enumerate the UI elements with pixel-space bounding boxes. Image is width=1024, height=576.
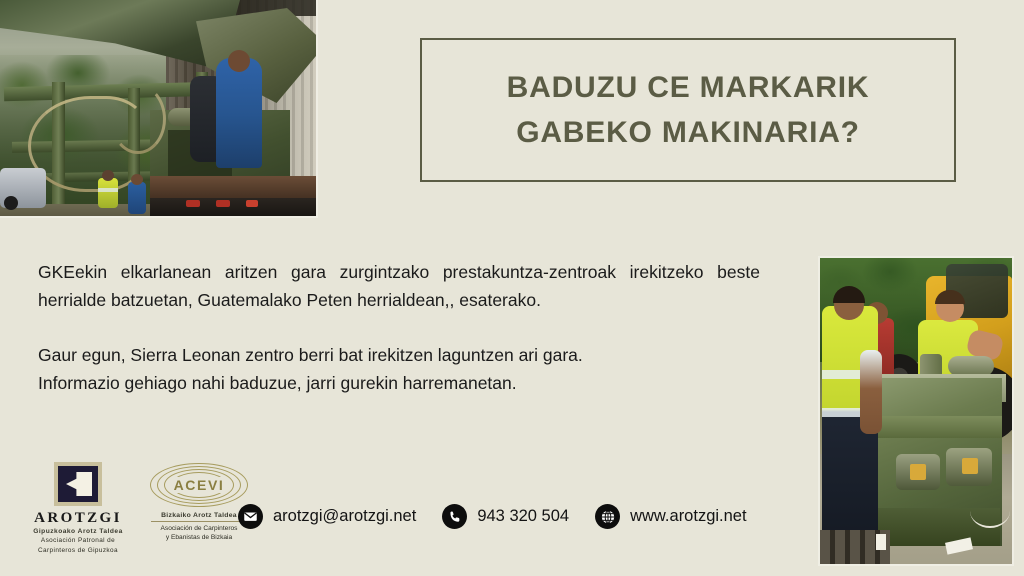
acevi-divider bbox=[151, 521, 247, 522]
photo-worker-head bbox=[102, 170, 114, 181]
contact-row: arotzgi@arotzgi.net 943 320 504 www.aro bbox=[238, 504, 747, 529]
acevi-name: ACEVI bbox=[171, 477, 228, 493]
arotzgi-name: AROTZGI bbox=[32, 511, 124, 526]
contact-website-label: www.arotzgi.net bbox=[630, 507, 746, 526]
photo-cable bbox=[970, 494, 1010, 528]
phone-icon bbox=[442, 504, 467, 529]
paragraph-1: GKEekin elkarlanean aritzen gara zurgint… bbox=[38, 258, 760, 315]
acevi-subtitle-eu: Bizkaiko Arotz Taldea bbox=[146, 512, 252, 519]
paragraph-2-line-2: Informazio gehiago nahi baduzue, jarri g… bbox=[38, 373, 517, 393]
photo-worker-blue-shirt bbox=[216, 58, 262, 168]
logo-acevi: ACEVI Bizkaiko Arotz Taldea Asociación d… bbox=[146, 462, 252, 543]
logo-arotzgi: AROTZGI Gipuzkoako Arotz Taldea Asociaci… bbox=[32, 462, 124, 556]
photo-bystander bbox=[128, 182, 146, 214]
photo-container-loading bbox=[0, 0, 318, 218]
body-copy: GKEekin elkarlanean aritzen gara zurgint… bbox=[38, 258, 760, 397]
contact-email[interactable]: arotzgi@arotzgi.net bbox=[238, 504, 416, 529]
photo-motor-plate bbox=[962, 458, 978, 474]
headline-line-2: GABEKO MAKINARIA? bbox=[516, 117, 860, 149]
logo-row: AROTZGI Gipuzkoako Arotz Taldea Asociaci… bbox=[32, 462, 252, 556]
photo-truck-light bbox=[186, 200, 200, 207]
acevi-subtitle-es-1: Asociación de Carpinteros bbox=[146, 525, 252, 534]
contact-phone[interactable]: 943 320 504 bbox=[442, 504, 569, 529]
arotzgi-subtitle-eu: Gipuzkoako Arotz Taldea bbox=[32, 528, 124, 535]
acevi-subtitle-es-2: y Ebanistas de Bizkaia bbox=[146, 534, 252, 543]
photo-bystander-head bbox=[131, 174, 143, 185]
wood-rings-icon: ACEVI bbox=[149, 462, 249, 508]
globe-icon bbox=[595, 504, 620, 529]
arrow-in-square-icon bbox=[54, 462, 102, 506]
arotzgi-subtitle-es-1: Asociación Patronal de bbox=[32, 537, 124, 545]
photo-machine-roller bbox=[948, 356, 994, 376]
headline-box: BADUZU CE MARKARIK GABEKO MAKINARIA? bbox=[420, 38, 956, 182]
arotzgi-subtitle-es-2: Carpinteros de Gipuzkoa bbox=[32, 547, 124, 555]
photo-paper bbox=[876, 534, 886, 550]
headline-line-1: BADUZU CE MARKARIK bbox=[507, 72, 870, 104]
contact-website[interactable]: www.arotzgi.net bbox=[595, 504, 746, 529]
photo-worker-hiviz bbox=[98, 178, 118, 208]
photo-motor-plate bbox=[910, 464, 926, 480]
contact-phone-label: 943 320 504 bbox=[477, 507, 569, 526]
paragraph-2: Gaur egun, Sierra Leonan zentro berri ba… bbox=[38, 341, 760, 398]
photo-truck-chassis bbox=[150, 198, 318, 218]
paragraph-2-line-1: Gaur egun, Sierra Leonan zentro berri ba… bbox=[38, 345, 583, 365]
photo-machine-ledge bbox=[872, 416, 1002, 438]
photo-machine-inspection bbox=[818, 256, 1014, 566]
photo-worker-head bbox=[228, 50, 250, 72]
envelope-icon bbox=[238, 504, 263, 529]
photo-worker-arm bbox=[860, 350, 882, 434]
photo-car-wheel bbox=[4, 196, 18, 210]
contact-email-label: arotzgi@arotzgi.net bbox=[273, 507, 416, 526]
photo-hiviz-stripe bbox=[98, 188, 118, 192]
photo-truck-light bbox=[246, 200, 258, 207]
photo-truck-light bbox=[216, 200, 230, 207]
photo-hose bbox=[110, 84, 166, 154]
